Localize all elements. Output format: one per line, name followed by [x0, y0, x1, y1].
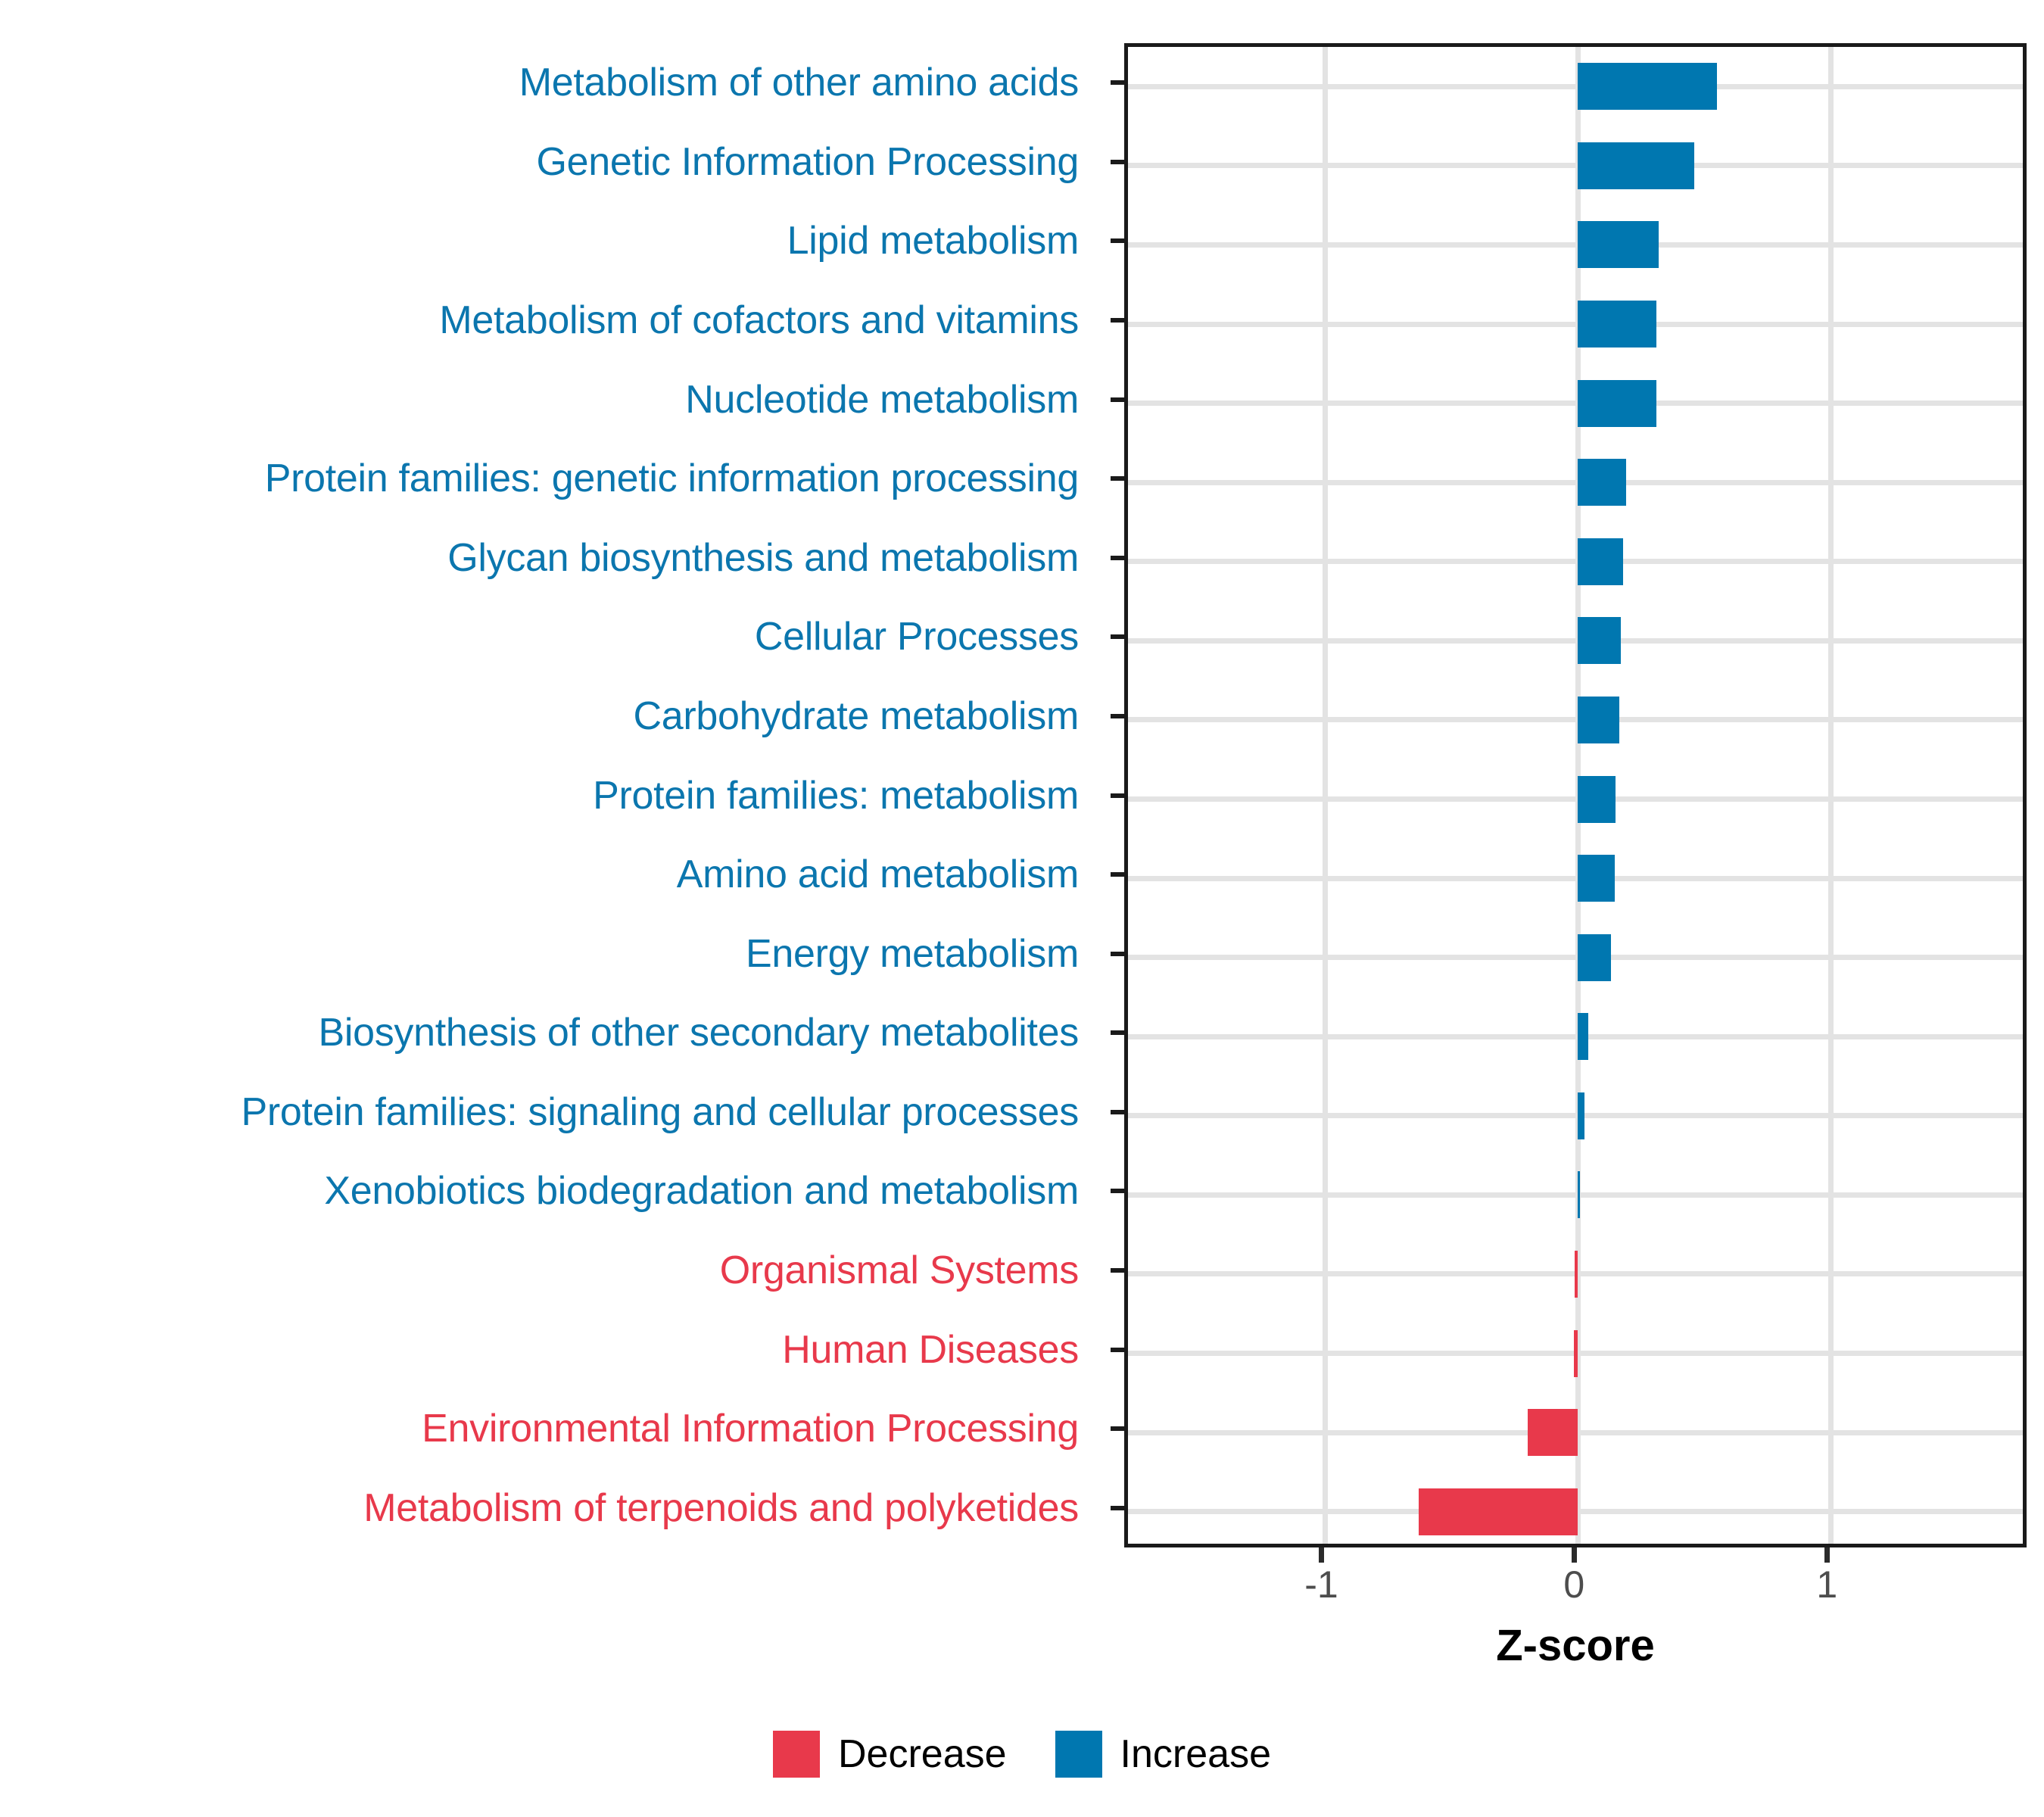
- y-axis-tick-mark-icon: [1111, 238, 1124, 243]
- bar-increase: [1578, 1171, 1580, 1218]
- horizontal-gridline: [1128, 84, 2023, 89]
- vertical-gridline: [1828, 47, 1834, 1544]
- bar-decrease: [1575, 1251, 1578, 1298]
- legend-swatch-increase-icon: [1055, 1731, 1102, 1778]
- y-axis-tick-mark-icon: [1111, 160, 1124, 164]
- y-axis-tick-mark-icon: [1111, 476, 1124, 481]
- bar-increase: [1578, 1092, 1584, 1139]
- y-axis-tick-mark-icon: [1111, 556, 1124, 560]
- x-axis-tick-label: 0: [1563, 1566, 1584, 1604]
- y-axis-category-label: Metabolism of terpenoids and polyketides: [363, 1488, 1079, 1528]
- horizontal-gridline: [1128, 796, 2023, 802]
- y-axis-tick-mark-icon: [1111, 952, 1124, 956]
- y-axis-tick-mark-icon: [1111, 397, 1124, 402]
- horizontal-gridline: [1128, 480, 2023, 485]
- bar-increase: [1578, 855, 1614, 902]
- bar-increase: [1578, 697, 1619, 743]
- horizontal-gridline: [1128, 638, 2023, 644]
- y-axis-category-label: Carbohydrate metabolism: [634, 697, 1080, 736]
- y-axis-tick-mark-icon: [1111, 634, 1124, 639]
- y-axis-tick-mark-icon: [1111, 1268, 1124, 1273]
- x-axis-ticks: [1124, 1547, 2027, 1563]
- bar-increase: [1578, 1013, 1588, 1060]
- horizontal-gridline: [1128, 1113, 2023, 1118]
- bar-increase: [1578, 142, 1694, 189]
- bar-decrease: [1419, 1488, 1578, 1535]
- x-axis-tick-mark-icon: [1824, 1547, 1830, 1563]
- bar-increase: [1578, 538, 1623, 585]
- bar-decrease: [1574, 1330, 1578, 1377]
- horizontal-gridline: [1128, 876, 2023, 881]
- y-axis-category-label: Genetic Information Processing: [537, 142, 1079, 182]
- y-axis-tick-mark-icon: [1111, 793, 1124, 798]
- y-axis-category-label: Environmental Information Processing: [422, 1409, 1079, 1448]
- y-axis-tick-mark-icon: [1111, 318, 1124, 323]
- horizontal-gridline: [1128, 717, 2023, 722]
- y-axis-category-label: Biosynthesis of other secondary metaboli…: [318, 1013, 1079, 1052]
- y-axis-category-label: Protein families: signaling and cellular…: [241, 1092, 1079, 1132]
- y-axis-tick-mark-icon: [1111, 1506, 1124, 1510]
- zscore-bar-chart: Metabolism of other amino acidsGenetic I…: [0, 0, 2044, 1817]
- horizontal-gridline: [1128, 1192, 2023, 1198]
- x-axis-tick-mark-icon: [1319, 1547, 1324, 1563]
- horizontal-gridline: [1128, 242, 2023, 248]
- legend-label-increase: Increase: [1120, 1734, 1271, 1774]
- y-axis-category-label: Xenobiotics biodegradation and metabolis…: [324, 1171, 1079, 1211]
- horizontal-gridline: [1128, 163, 2023, 168]
- y-axis-category-label: Protein families: genetic information pr…: [265, 459, 1079, 498]
- y-axis-category-label: Nucleotide metabolism: [685, 380, 1079, 419]
- bar-increase: [1578, 776, 1616, 823]
- bar-increase: [1578, 934, 1610, 981]
- y-axis-tick-mark-icon: [1111, 714, 1124, 718]
- horizontal-gridline: [1128, 1034, 2023, 1039]
- y-axis-category-label: Organismal Systems: [720, 1251, 1079, 1290]
- legend-item-decrease[interactable]: Decrease: [773, 1731, 1007, 1778]
- y-axis-tick-mark-icon: [1111, 1030, 1124, 1035]
- bar-increase: [1578, 617, 1621, 664]
- bar-increase: [1578, 63, 1717, 110]
- bar-increase: [1578, 459, 1625, 506]
- y-axis-tick-mark-icon: [1111, 1348, 1124, 1352]
- x-axis-tick-label: 1: [1816, 1566, 1837, 1604]
- y-axis-category-label: Protein families: metabolism: [593, 776, 1079, 815]
- y-axis-tick-mark-icon: [1111, 1189, 1124, 1193]
- vertical-gridline: [1323, 47, 1328, 1544]
- y-axis-category-label: Glycan biosynthesis and metabolism: [447, 538, 1079, 578]
- x-axis-tick-label: -1: [1304, 1566, 1338, 1604]
- bar-decrease: [1528, 1409, 1578, 1456]
- x-axis-title: Z-score: [1124, 1624, 2027, 1668]
- y-axis-tick-mark-icon: [1111, 1426, 1124, 1431]
- plot-panel: [1124, 43, 2027, 1547]
- legend-label-decrease: Decrease: [838, 1734, 1007, 1774]
- bar-increase: [1578, 301, 1656, 348]
- horizontal-gridline: [1128, 322, 2023, 327]
- horizontal-gridline: [1128, 559, 2023, 564]
- y-axis-tick-mark-icon: [1111, 1110, 1124, 1114]
- y-axis-category-label: Metabolism of cofactors and vitamins: [439, 301, 1079, 340]
- horizontal-gridline: [1128, 400, 2023, 406]
- y-axis-category-label: Amino acid metabolism: [677, 855, 1079, 894]
- y-axis-category-label: Cellular Processes: [755, 617, 1079, 656]
- x-axis-tick-mark-icon: [1572, 1547, 1577, 1563]
- chart-legend: Decrease Increase: [0, 1731, 2044, 1778]
- y-axis-category-label: Human Diseases: [782, 1330, 1079, 1370]
- horizontal-gridline: [1128, 955, 2023, 960]
- legend-item-increase[interactable]: Increase: [1055, 1731, 1271, 1778]
- bar-increase: [1578, 221, 1659, 268]
- legend-swatch-decrease-icon: [773, 1731, 820, 1778]
- y-axis-category-label: Lipid metabolism: [787, 221, 1079, 260]
- y-axis-tick-mark-icon: [1111, 872, 1124, 877]
- y-axis-category-label: Metabolism of other amino acids: [519, 63, 1079, 102]
- y-axis-tick-mark-icon: [1111, 80, 1124, 85]
- y-axis-category-labels: Metabolism of other amino acidsGenetic I…: [0, 43, 1079, 1547]
- bar-increase: [1578, 380, 1656, 427]
- y-axis-category-label: Energy metabolism: [746, 934, 1079, 974]
